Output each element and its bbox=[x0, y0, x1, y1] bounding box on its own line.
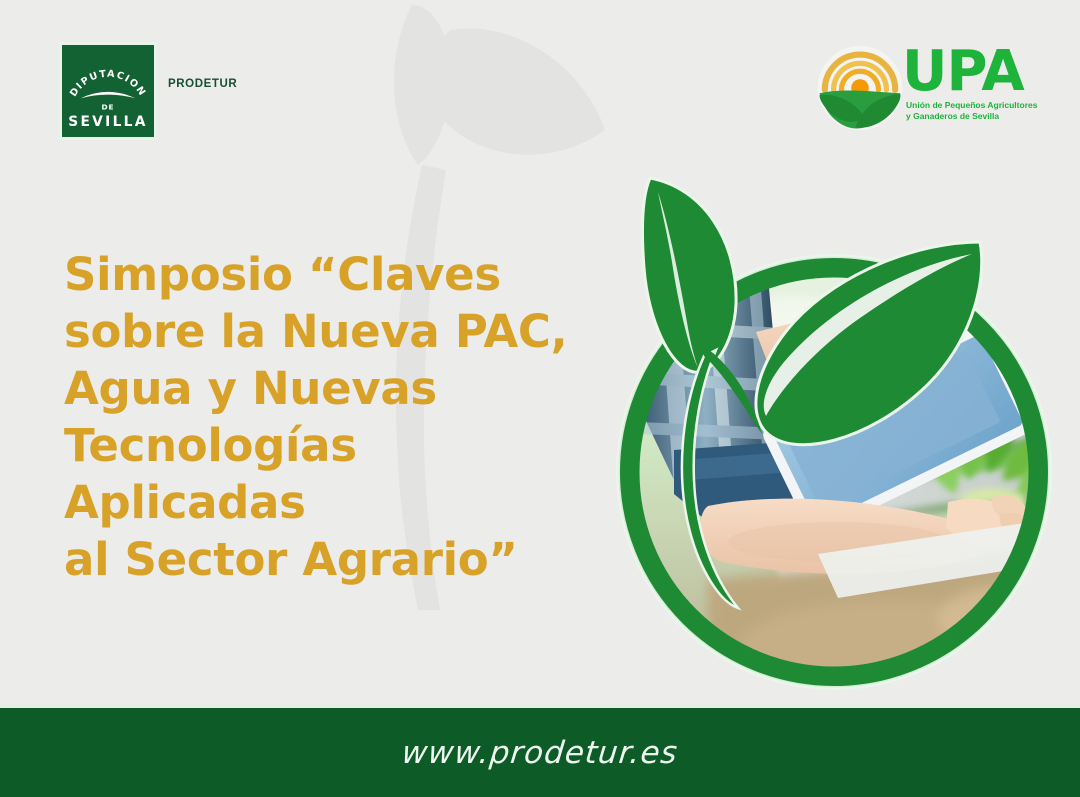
poster-footer: www.prodetur.es bbox=[0, 708, 1080, 797]
poster: DIPUTACION DE SEVILLA PRODETUR bbox=[0, 0, 1080, 797]
upa-acronym: UPA bbox=[902, 44, 1024, 100]
upa-logo: UPA Unión de Pequeños Agricultores y Gan… bbox=[816, 42, 1048, 138]
upa-tagline-line1: Unión de Pequeños Agricultores bbox=[906, 100, 1054, 111]
poster-header: DIPUTACION DE SEVILLA PRODETUR bbox=[0, 0, 1080, 150]
hero-illustration bbox=[588, 150, 1068, 710]
upa-tagline-line2: y Ganaderos de Sevilla bbox=[906, 111, 1054, 122]
upa-tagline: Unión de Pequeños Agricultores y Ganader… bbox=[906, 100, 1054, 122]
diputacion-sevilla-logo: DIPUTACION DE SEVILLA bbox=[62, 45, 154, 137]
diputacion-sevilla-text: SEVILLA bbox=[68, 114, 148, 130]
page-title: Simposio “Claves sobre la Nueva PAC, Agu… bbox=[64, 246, 604, 588]
prodetur-wordmark: PRODETUR bbox=[168, 78, 237, 90]
diputacion-de-text: DE bbox=[102, 102, 115, 111]
upa-emblem-icon bbox=[816, 44, 904, 132]
website-url[interactable]: www.prodetur.es bbox=[400, 735, 680, 771]
